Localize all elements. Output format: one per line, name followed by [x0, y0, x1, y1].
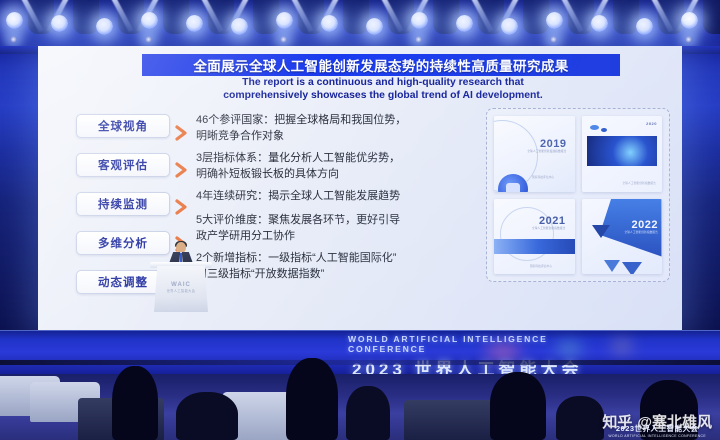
stage-light — [231, 18, 248, 35]
chevron-arrow-icon — [170, 114, 192, 151]
chevron-arrow-icon — [170, 151, 192, 188]
badge-chinese: 2023世界人工智能大会 — [608, 423, 706, 434]
stage-light-small — [145, 36, 152, 43]
audience-silhouette — [556, 396, 604, 440]
bullet-line: 和三级指标“开放数据指数” — [196, 266, 486, 282]
bullet-text-column: 46个参评国家：把握全球格局和我国位势，明晰竞争合作对象3层指标体系：量化分析人… — [196, 112, 486, 288]
keyword-pill-label: 多维分析 — [98, 235, 148, 251]
truss-bracket — [253, 0, 279, 34]
bullet-line: 3层指标体系：量化分析人工智能优劣势， — [196, 150, 486, 166]
report-cover-2020: 2020 全球人工智能创新指数报告 — [582, 116, 663, 192]
cover-caption-2019: 全球人工智能创新发展指数报告 — [523, 150, 567, 154]
stage-light-small — [415, 36, 422, 43]
stage-light — [591, 15, 608, 32]
conference-photo: 全面展示全球人工智能创新发展态势的持续性高质量研究成果 The report i… — [0, 0, 720, 440]
report-cover-2021: 2021 全球人工智能创新指数报告 国家科技评估中心 — [494, 199, 575, 275]
cover-caption-2022: 全球人工智能创新指数报告 — [618, 231, 658, 235]
audience-silhouette — [286, 358, 338, 440]
cover-year-2022: 2022 — [632, 219, 658, 231]
stage-light — [321, 15, 338, 32]
stage-light — [456, 15, 473, 32]
stage-light — [636, 18, 653, 35]
truss-bracket — [163, 0, 189, 34]
bullet-line: 明晰竞争合作对象 — [196, 128, 486, 144]
speaker-head — [176, 242, 186, 253]
keyword-pill-label: 动态调整 — [98, 274, 148, 290]
cover-footnote-2021: 国家科技评估中心 — [520, 265, 562, 269]
keyword-pill-2: 客观评估 — [76, 153, 170, 177]
podium: WAIC 世界人工智能大会 — [150, 242, 212, 312]
stage-light — [501, 18, 518, 35]
stage-light — [366, 18, 383, 35]
cover-year-2021: 2021 — [539, 215, 565, 227]
report-cover-grid: 2019 全球人工智能创新发展指数报告 国家科技评估中心 2020 全球人工智能… — [494, 116, 662, 274]
audience-silhouette — [112, 366, 158, 440]
keyword-pill-label: 持续监测 — [98, 196, 148, 212]
bullet-point-2: 3层指标体系：量化分析人工智能优劣势，明确补短板锻长板的具体方向 — [196, 150, 486, 182]
conference-badge: 2023世界人工智能大会 WORLD ARTIFICIAL INTELLIGEN… — [608, 423, 706, 438]
bullet-line: 5大评价维度：聚焦发展各环节，更好引导 — [196, 212, 486, 228]
banner-en-line1: WORLD ARTIFICIAL INTELLIGENCE — [348, 334, 678, 344]
slide-title-band: 全面展示全球人工智能创新发展态势的持续性高质量研究成果 — [142, 54, 620, 76]
badge-english: WORLD ARTIFICIAL INTELLIGENCE CONFERENCE — [608, 434, 706, 438]
cover-footnote-2019: 国家科技评估中心 — [532, 176, 570, 180]
slide-subtitle: The report is a continuous and high-qual… — [142, 76, 624, 102]
stage-light — [546, 12, 563, 29]
seat — [404, 400, 500, 440]
bullet-line: 4年连续研究：揭示全球人工智能发展趋势 — [196, 188, 486, 204]
bullet-line: 明确补短板锻长板的具体方向 — [196, 166, 486, 182]
bullet-point-1: 46个参评国家：把握全球格局和我国位势，明晰竞争合作对象 — [196, 112, 486, 144]
stage-light — [276, 12, 293, 29]
chevron-arrow-icon — [170, 188, 192, 225]
stage-light — [681, 12, 698, 29]
stage-light-small — [280, 36, 287, 43]
slide-title: 全面展示全球人工智能创新发展态势的持续性高质量研究成果 — [193, 55, 568, 75]
truss-bracket — [613, 0, 639, 34]
cover-caption-2020: 全球人工智能创新指数报告 — [616, 182, 656, 186]
stage-light — [96, 18, 113, 35]
slide-subtitle-line1: The report is a continuous and high-qual… — [142, 76, 624, 89]
keyword-pill-label: 全球视角 — [98, 118, 148, 134]
keyword-pill-label: 客观评估 — [98, 157, 148, 173]
truss-bracket — [343, 0, 369, 34]
conference-banner-english: WORLD ARTIFICIAL INTELLIGENCE CONFERENCE — [348, 334, 678, 354]
podium-logo: WAIC 世界人工智能大会 — [150, 282, 212, 293]
bullet-point-3: 4年连续研究：揭示全球人工智能发展趋势 — [196, 188, 486, 204]
audience-silhouette — [176, 392, 238, 440]
truss-bracket — [433, 0, 459, 34]
audience-silhouette — [346, 386, 390, 440]
cover-caption-2021: 全球人工智能创新指数报告 — [524, 227, 566, 231]
keyword-pill-3: 持续监测 — [76, 192, 170, 216]
report-cover-2022: 2022 全球人工智能创新指数报告 — [582, 199, 663, 275]
truss-bracket — [73, 0, 99, 34]
truss-bracket — [703, 0, 720, 34]
cover-year-2019: 2019 — [540, 138, 566, 150]
slide-subtitle-line2: comprehensively showcases the global tre… — [142, 89, 624, 102]
podium-logo-sub: 世界人工智能大会 — [150, 288, 212, 293]
stage-light-truss — [0, 0, 720, 52]
bullet-line: 46个参评国家：把握全球格局和我国位势， — [196, 112, 486, 128]
stage-light — [51, 15, 68, 32]
stage-light — [141, 12, 158, 29]
stage-light-small — [550, 36, 557, 43]
keyword-pill-1: 全球视角 — [76, 114, 170, 138]
banner-en-line2: CONFERENCE — [348, 344, 678, 354]
bullet-point-4: 5大评价维度：聚焦发展各环节，更好引导政产学研用分工协作 — [196, 212, 486, 244]
front-desk-edge — [0, 360, 720, 365]
cover-year-2020: 2020 — [646, 121, 657, 126]
report-cover-panel: 2019 全球人工智能创新发展指数报告 国家科技评估中心 2020 全球人工智能… — [486, 108, 670, 282]
stage-light — [411, 12, 428, 29]
stage-light-small — [685, 36, 692, 43]
bullet-line: 政产学研用分工协作 — [196, 228, 486, 244]
projected-slide: 全面展示全球人工智能创新发展态势的持续性高质量研究成果 The report i… — [38, 46, 682, 330]
stage-light — [6, 12, 23, 29]
bullet-line: 2个新增指标：一级指标“人工智能国际化” — [196, 250, 486, 266]
audience-silhouette — [490, 372, 546, 440]
truss-bracket — [523, 0, 549, 34]
report-cover-2019: 2019 全球人工智能创新发展指数报告 国家科技评估中心 — [494, 116, 575, 192]
stage-light-small — [10, 36, 17, 43]
stage-light — [186, 15, 203, 32]
bullet-point-5: 2个新增指标：一级指标“人工智能国际化”和三级指标“开放数据指数” — [196, 250, 486, 282]
